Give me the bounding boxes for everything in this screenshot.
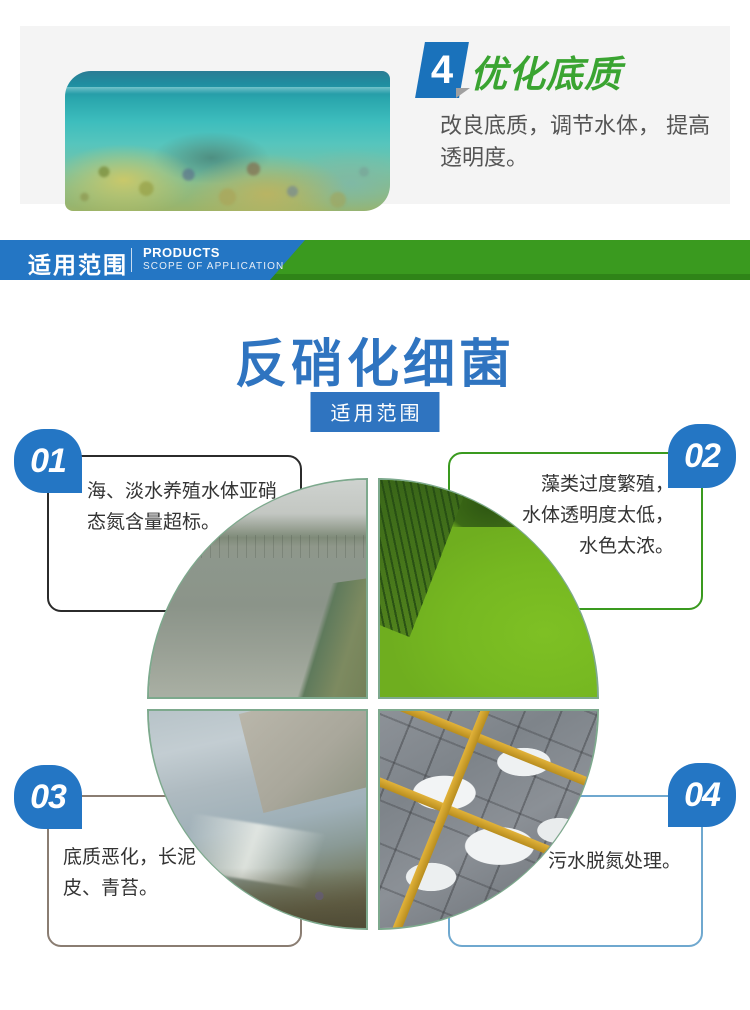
feature-description: 改良底质，调节水体， 提高透明度。 (440, 110, 730, 174)
ribbon-cn-label: 适用范围 (28, 246, 128, 280)
mud-concrete-edge (238, 709, 368, 812)
mud-moss-image (147, 709, 368, 930)
ribbon-green-bar (250, 240, 750, 274)
wastewater-tanks-image (378, 709, 599, 930)
section-ribbon: 适用范围 PRODUCTS SCOPE OF APPLICATION (0, 240, 750, 288)
image-collage-circle (147, 478, 599, 930)
ribbon-green-underline (250, 274, 750, 280)
page-title: 反硝化细菌 (0, 322, 750, 397)
product-detail-page: 4 优化底质 改良底质，调节水体， 提高透明度。 适用范围 PRODUCTS S… (0, 0, 750, 1010)
pond-bank (271, 578, 368, 699)
subtitle-pill: 适用范围 (311, 392, 440, 432)
callout-01-number: 01 (14, 429, 82, 493)
aquaculture-pond-image (147, 478, 368, 699)
feature-title: 优化底质 (470, 44, 622, 98)
coral-reef-photo (65, 71, 390, 211)
collage-quadrant-1 (147, 478, 368, 699)
ribbon-en-line1: PRODUCTS (143, 245, 220, 260)
algae-bloom-image (378, 478, 599, 699)
collage-quadrant-3 (147, 709, 368, 930)
algae-reeds (378, 478, 471, 637)
ribbon-en-line2: SCOPE OF APPLICATION (143, 261, 284, 272)
callout-02-number: 02 (668, 424, 736, 488)
waterline-highlight (65, 87, 390, 94)
mud-debris (147, 868, 368, 930)
feature-badge-shadow-icon (456, 88, 470, 98)
collage-quadrant-2 (378, 478, 599, 699)
collage-quadrant-4 (378, 709, 599, 930)
ribbon-divider (131, 248, 132, 272)
callout-04-number: 04 (668, 763, 736, 827)
callout-03-number: 03 (14, 765, 82, 829)
